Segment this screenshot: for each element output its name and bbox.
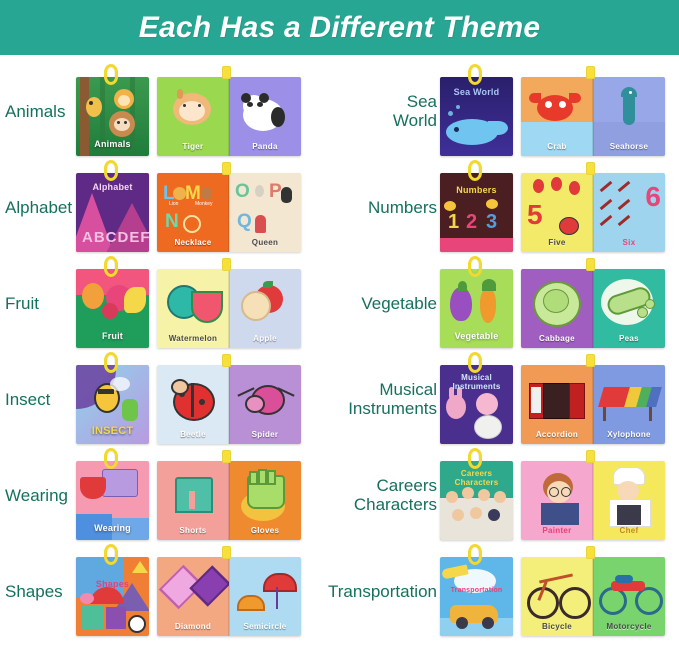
hang-loop-icon xyxy=(104,160,118,181)
page-caption: Semicircle xyxy=(229,622,301,631)
page-caption: Necklace xyxy=(157,238,229,247)
book-tab-icon xyxy=(586,354,595,367)
book-tab-icon xyxy=(222,66,231,79)
page-caption: Peas xyxy=(593,334,665,343)
page-caption: Six xyxy=(593,238,665,247)
page-caption: Bicycle xyxy=(521,622,593,631)
book-page: O P Q Queen xyxy=(229,173,301,252)
page-caption: Tiger xyxy=(157,142,229,151)
book-tab-icon xyxy=(222,258,231,271)
cover-title: Sea World xyxy=(440,87,513,97)
book-page: 6 Six xyxy=(593,173,665,252)
hang-loop-icon xyxy=(468,160,482,181)
page-caption: Chef xyxy=(593,526,665,535)
page-caption: Motorcycle xyxy=(593,622,665,631)
book-tab-icon xyxy=(586,66,595,79)
cover-title: Wearing xyxy=(76,523,149,533)
book-open-sea-world: Crab Seahorse xyxy=(521,77,665,156)
book-cover-alphabet: Alphabet ABCDEF xyxy=(76,173,149,252)
theme-label-numbers: Numbers xyxy=(280,159,437,255)
cover-title: Animals xyxy=(76,139,149,149)
infographic-page: Each Has a Different Theme Animals xyxy=(0,0,679,664)
book-page: Xylophone xyxy=(593,365,665,444)
page-caption: Painter xyxy=(521,526,593,535)
page-caption: Watermelon xyxy=(157,334,229,343)
page-caption: Diamond xyxy=(157,622,229,631)
hang-loop-icon xyxy=(468,64,482,85)
book-cover-fruit: Fruit xyxy=(76,269,149,348)
book-open-animals: Tiger Panda xyxy=(157,77,301,156)
theme-grid: Animals xyxy=(0,55,679,664)
theme-row-wearing: Wearing Wearing xyxy=(0,447,339,543)
theme-label-sea-world: Sea World xyxy=(280,63,437,159)
book-open-careers-characters: Painter Chef xyxy=(521,461,665,540)
page-caption: Shorts xyxy=(157,526,229,535)
book-page: Bicycle xyxy=(521,557,593,636)
book-cover-insect: INSECT xyxy=(76,365,149,444)
book-cover-careers-characters: Careers Characters xyxy=(440,461,513,540)
hang-loop-icon xyxy=(468,448,482,469)
hang-loop-icon xyxy=(104,448,118,469)
book-open-insect: Beetle Spider xyxy=(157,365,301,444)
book-cover-wearing: Wearing xyxy=(76,461,149,540)
cover-title: Shapes xyxy=(76,579,149,589)
page-caption: Seahorse xyxy=(593,142,665,151)
book-page: Cabbage xyxy=(521,269,593,348)
cover-title: INSECT xyxy=(76,425,149,437)
book-page: Beetle xyxy=(157,365,229,444)
theme-label-vegetable: Vegetable xyxy=(280,255,437,351)
book-tab-icon xyxy=(586,258,595,271)
book-open-fruit: Watermelon Apple xyxy=(157,269,301,348)
book-cover-musical-instruments: Musical Instruments xyxy=(440,365,513,444)
theme-row-animals: Animals xyxy=(0,63,339,159)
theme-row-musical-instruments: Musical Instruments Musical Instruments xyxy=(340,351,679,447)
book-tab-icon xyxy=(586,546,595,559)
theme-row-numbers: Numbers Numbers 1 2 3 xyxy=(340,159,679,255)
hang-loop-icon xyxy=(468,256,482,277)
book-tab-icon xyxy=(586,162,595,175)
book-page: Diamond xyxy=(157,557,229,636)
book-tab-icon xyxy=(222,354,231,367)
book-page: Tiger xyxy=(157,77,229,156)
cover-title: Transportation xyxy=(440,587,513,594)
book-cover-vegetable: Vegetable xyxy=(440,269,513,348)
cover-title: Vegetable xyxy=(440,331,513,341)
hang-loop-icon xyxy=(104,352,118,373)
page-caption: Beetle xyxy=(157,430,229,439)
book-cover-animals: Animals xyxy=(76,77,149,156)
page-caption: Queen xyxy=(229,238,301,247)
book-page: Shorts xyxy=(157,461,229,540)
book-cover-numbers: Numbers 1 2 3 xyxy=(440,173,513,252)
book-tab-icon xyxy=(586,450,595,463)
book-page: Accordion xyxy=(521,365,593,444)
page-caption: Crab xyxy=(521,142,593,151)
theme-column-right: Sea World Sea World xyxy=(340,55,679,664)
book-open-transportation: Bicycle Motorcycle xyxy=(521,557,665,636)
book-page: Motorcycle xyxy=(593,557,665,636)
theme-label-careers-characters: Careers Characters xyxy=(280,447,437,543)
theme-label-transportation: Transportation xyxy=(280,543,437,639)
book-page: Semicircle xyxy=(229,557,301,636)
hang-loop-icon xyxy=(104,544,118,565)
book-page: Painter xyxy=(521,461,593,540)
book-tab-icon xyxy=(222,450,231,463)
book-page: Seahorse xyxy=(593,77,665,156)
theme-row-insect: Insect INSECT xyxy=(0,351,339,447)
page-title: Each Has a Different Theme xyxy=(139,13,540,43)
book-open-musical-instruments: Accordion Xylophone xyxy=(521,365,665,444)
book-open-vegetable: Cabbage Peas xyxy=(521,269,665,348)
book-tab-icon xyxy=(222,546,231,559)
book-page: Peas xyxy=(593,269,665,348)
cover-title: Numbers xyxy=(440,185,513,195)
book-open-numbers: 5 Five 6 xyxy=(521,173,665,252)
page-caption: Gloves xyxy=(229,526,301,535)
book-open-alphabet: L M N Lion Monkey Necklace O P xyxy=(157,173,301,252)
book-cover-shapes: Shapes xyxy=(76,557,149,636)
book-page: Chef xyxy=(593,461,665,540)
cover-title: Fruit xyxy=(76,331,149,341)
page-caption: Five xyxy=(521,238,593,247)
page-caption: Accordion xyxy=(521,430,593,439)
page-caption: Xylophone xyxy=(593,430,665,439)
book-page: 5 Five xyxy=(521,173,593,252)
book-page: Panda xyxy=(229,77,301,156)
book-cover-sea-world: Sea World xyxy=(440,77,513,156)
theme-row-alphabet: Alphabet Alphabet ABCDEF L M xyxy=(0,159,339,255)
theme-label-musical-instruments: Musical Instruments xyxy=(280,351,437,447)
cover-title: Musical Instruments xyxy=(440,373,513,391)
theme-row-vegetable: Vegetable Vegetable xyxy=(340,255,679,351)
theme-row-shapes: Shapes Shapes xyxy=(0,543,339,639)
cover-title: Alphabet xyxy=(76,182,149,192)
page-caption: Spider xyxy=(229,430,301,439)
book-page: L M N Lion Monkey Necklace xyxy=(157,173,229,252)
book-page: Apple xyxy=(229,269,301,348)
page-caption: Panda xyxy=(229,142,301,151)
book-page: Spider xyxy=(229,365,301,444)
theme-row-sea-world: Sea World Sea World xyxy=(340,63,679,159)
cover-title: Careers Characters xyxy=(440,469,513,487)
theme-row-transportation: Transportation Transportation xyxy=(340,543,679,639)
book-page: Crab xyxy=(521,77,593,156)
hang-loop-icon xyxy=(468,352,482,373)
hang-loop-icon xyxy=(104,256,118,277)
hang-loop-icon xyxy=(104,64,118,85)
book-page: Watermelon xyxy=(157,269,229,348)
book-page: Gloves xyxy=(229,461,301,540)
book-open-shapes: Diamond Semicircle xyxy=(157,557,301,636)
header-banner: Each Has a Different Theme xyxy=(0,0,679,55)
page-caption: Apple xyxy=(229,334,301,343)
book-open-wearing: Shorts Gloves xyxy=(157,461,301,540)
theme-row-careers-characters: Careers Characters xyxy=(340,447,679,543)
hang-loop-icon xyxy=(468,544,482,565)
book-tab-icon xyxy=(222,162,231,175)
page-caption: Cabbage xyxy=(521,334,593,343)
theme-row-fruit: Fruit Fruit xyxy=(0,255,339,351)
book-cover-transportation: Transportation xyxy=(440,557,513,636)
